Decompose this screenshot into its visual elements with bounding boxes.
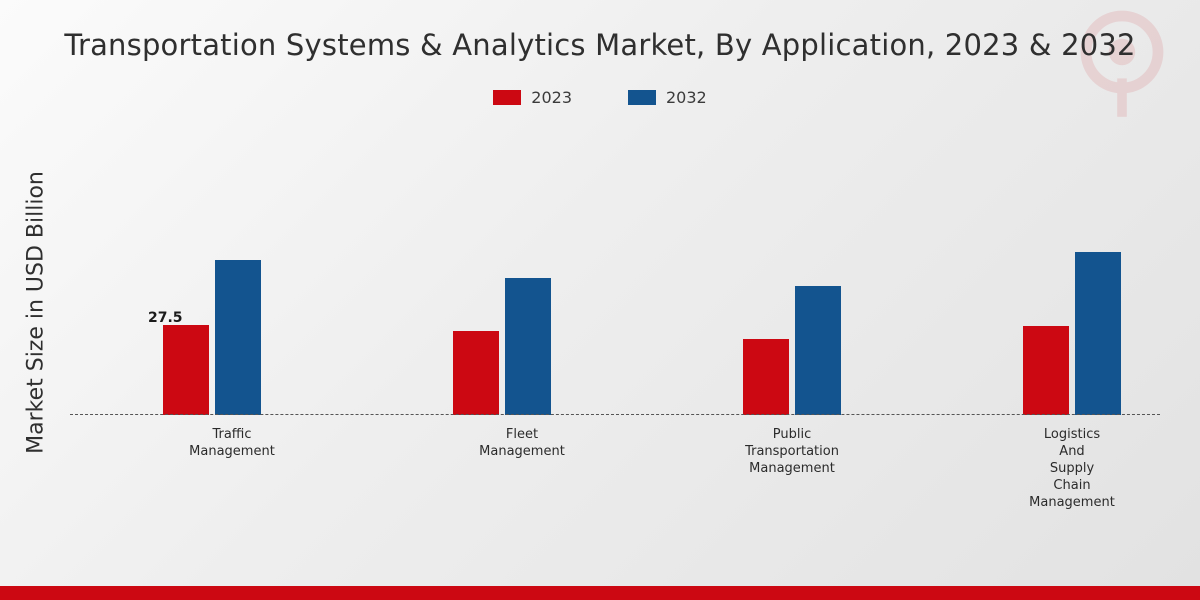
x-tick-public-transportation-management: Public Transportation Management	[712, 426, 872, 477]
bar-2023-logistics-and-supply-chain-management[interactable]	[1023, 326, 1069, 415]
bar-group-traffic-management	[152, 130, 272, 415]
x-tick-traffic-management: Traffic Management	[152, 426, 312, 460]
x-tick-line: Management	[712, 460, 872, 477]
bar-2032-fleet-management[interactable]	[505, 278, 551, 415]
x-tick-logistics-and-supply-chain-management: Logistics And Supply Chain Management	[992, 426, 1152, 511]
bar-2032-traffic-management[interactable]	[215, 260, 261, 415]
bar-2023-fleet-management[interactable]	[453, 331, 499, 415]
legend-swatch-icon	[628, 90, 656, 105]
x-tick-line: Chain	[992, 477, 1152, 494]
x-tick-line: Fleet	[442, 426, 602, 443]
x-tick-line: Traffic	[152, 426, 312, 443]
x-tick-line: Public	[712, 426, 872, 443]
plot-area: 27.5	[70, 130, 1160, 415]
x-tick-line: And	[992, 443, 1152, 460]
x-tick-line: Logistics	[992, 426, 1152, 443]
legend-item-2032[interactable]: 2032	[628, 88, 707, 107]
x-tick-fleet-management: Fleet Management	[442, 426, 602, 460]
x-tick-line: Transportation	[712, 443, 872, 460]
legend-swatch-icon	[493, 90, 521, 105]
legend-label-2032: 2032	[666, 88, 707, 107]
bar-group-public-transportation-management	[732, 130, 852, 415]
bar-2023-public-transportation-management[interactable]	[743, 339, 789, 415]
bar-group-logistics-and-supply-chain-management	[1012, 130, 1132, 415]
chart-legend: 2023 2032	[0, 88, 1200, 107]
bar-group-fleet-management	[442, 130, 562, 415]
x-tick-line: Management	[152, 443, 312, 460]
y-axis-label: Market Size in USD Billion	[24, 153, 49, 473]
bar-2023-traffic-management[interactable]	[163, 325, 209, 415]
chart-page: Transportation Systems & Analytics Marke…	[0, 0, 1200, 600]
bar-2032-logistics-and-supply-chain-management[interactable]	[1075, 252, 1121, 415]
data-label-2023-traffic-management: 27.5	[148, 310, 183, 326]
x-axis-baseline	[70, 414, 1160, 415]
x-tick-line: Supply	[992, 460, 1152, 477]
legend-item-2023[interactable]: 2023	[493, 88, 572, 107]
page-title: Transportation Systems & Analytics Marke…	[0, 28, 1200, 62]
x-tick-line: Management	[442, 443, 602, 460]
footer-accent-bar	[0, 586, 1200, 600]
bar-2032-public-transportation-management[interactable]	[795, 286, 841, 415]
legend-label-2023: 2023	[531, 88, 572, 107]
x-axis-tick-labels: Traffic Management Fleet Management Publ…	[70, 420, 1160, 540]
x-tick-line: Management	[992, 494, 1152, 511]
